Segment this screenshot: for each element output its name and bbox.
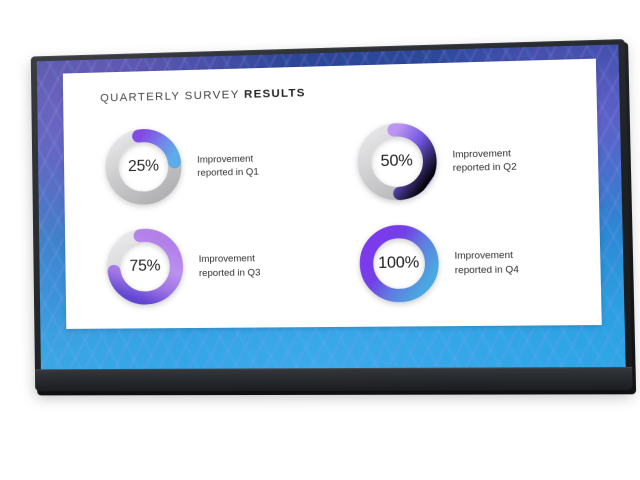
donut-chart-q3: 75%	[101, 222, 189, 310]
stat-description-q3-line2: reported in Q3	[199, 265, 261, 280]
stat-item-q4: 100% Improvement reported in Q4	[334, 209, 591, 314]
stat-description-q2-line1: Improvement	[452, 145, 516, 160]
donut-value-q1: 25%	[100, 123, 188, 211]
page-title-regular: QUARTERLY SURVEY	[100, 89, 244, 105]
stat-description-q2-line2: reported in Q2	[453, 160, 517, 175]
stat-description-q3: Improvement reported in Q3	[199, 251, 261, 279]
presentation-slide: QUARTERLY SURVEY RESULTS	[63, 59, 602, 329]
stat-description-q3-line1: Improvement	[199, 251, 261, 266]
stat-item-q2: 50% Improvement reported in Q2	[332, 107, 589, 214]
page-title-bold: RESULTS	[244, 87, 306, 101]
stat-description-q1-line1: Improvement	[197, 151, 259, 166]
stat-description-q2: Improvement reported in Q2	[452, 145, 517, 174]
donut-chart-q4: 100%	[353, 218, 445, 308]
monitor-bezel: QUARTERLY SURVEY RESULTS	[31, 39, 633, 391]
stat-description-q1-line2: reported in Q1	[197, 165, 259, 180]
page-title: QUARTERLY SURVEY RESULTS	[100, 87, 306, 104]
donut-value-q4: 100%	[353, 218, 445, 308]
stat-description-q1: Improvement reported in Q1	[197, 151, 259, 180]
donut-value-q2: 50%	[351, 117, 443, 207]
stat-description-q4: Improvement reported in Q4	[454, 248, 519, 277]
screenshot-stage: QUARTERLY SURVEY RESULTS	[0, 0, 640, 480]
stat-description-q4-line1: Improvement	[454, 248, 518, 263]
monitor-chin	[35, 367, 633, 391]
donut-chart-q1: 25%	[100, 123, 188, 211]
stat-item-q1: 25% Improvement reported in Q1	[81, 113, 327, 218]
stat-item-q3: 75% Improvement reported in Q3	[83, 214, 329, 317]
donut-value-q3: 75%	[101, 222, 189, 310]
donut-chart-q2: 50%	[351, 117, 443, 207]
stat-description-q4-line2: reported in Q4	[455, 262, 519, 277]
monitor: QUARTERLY SURVEY RESULTS	[31, 39, 633, 391]
monitor-screen: QUARTERLY SURVEY RESULTS	[37, 44, 626, 369]
donut-grid: 25% Improvement reported in Q1	[81, 107, 590, 317]
